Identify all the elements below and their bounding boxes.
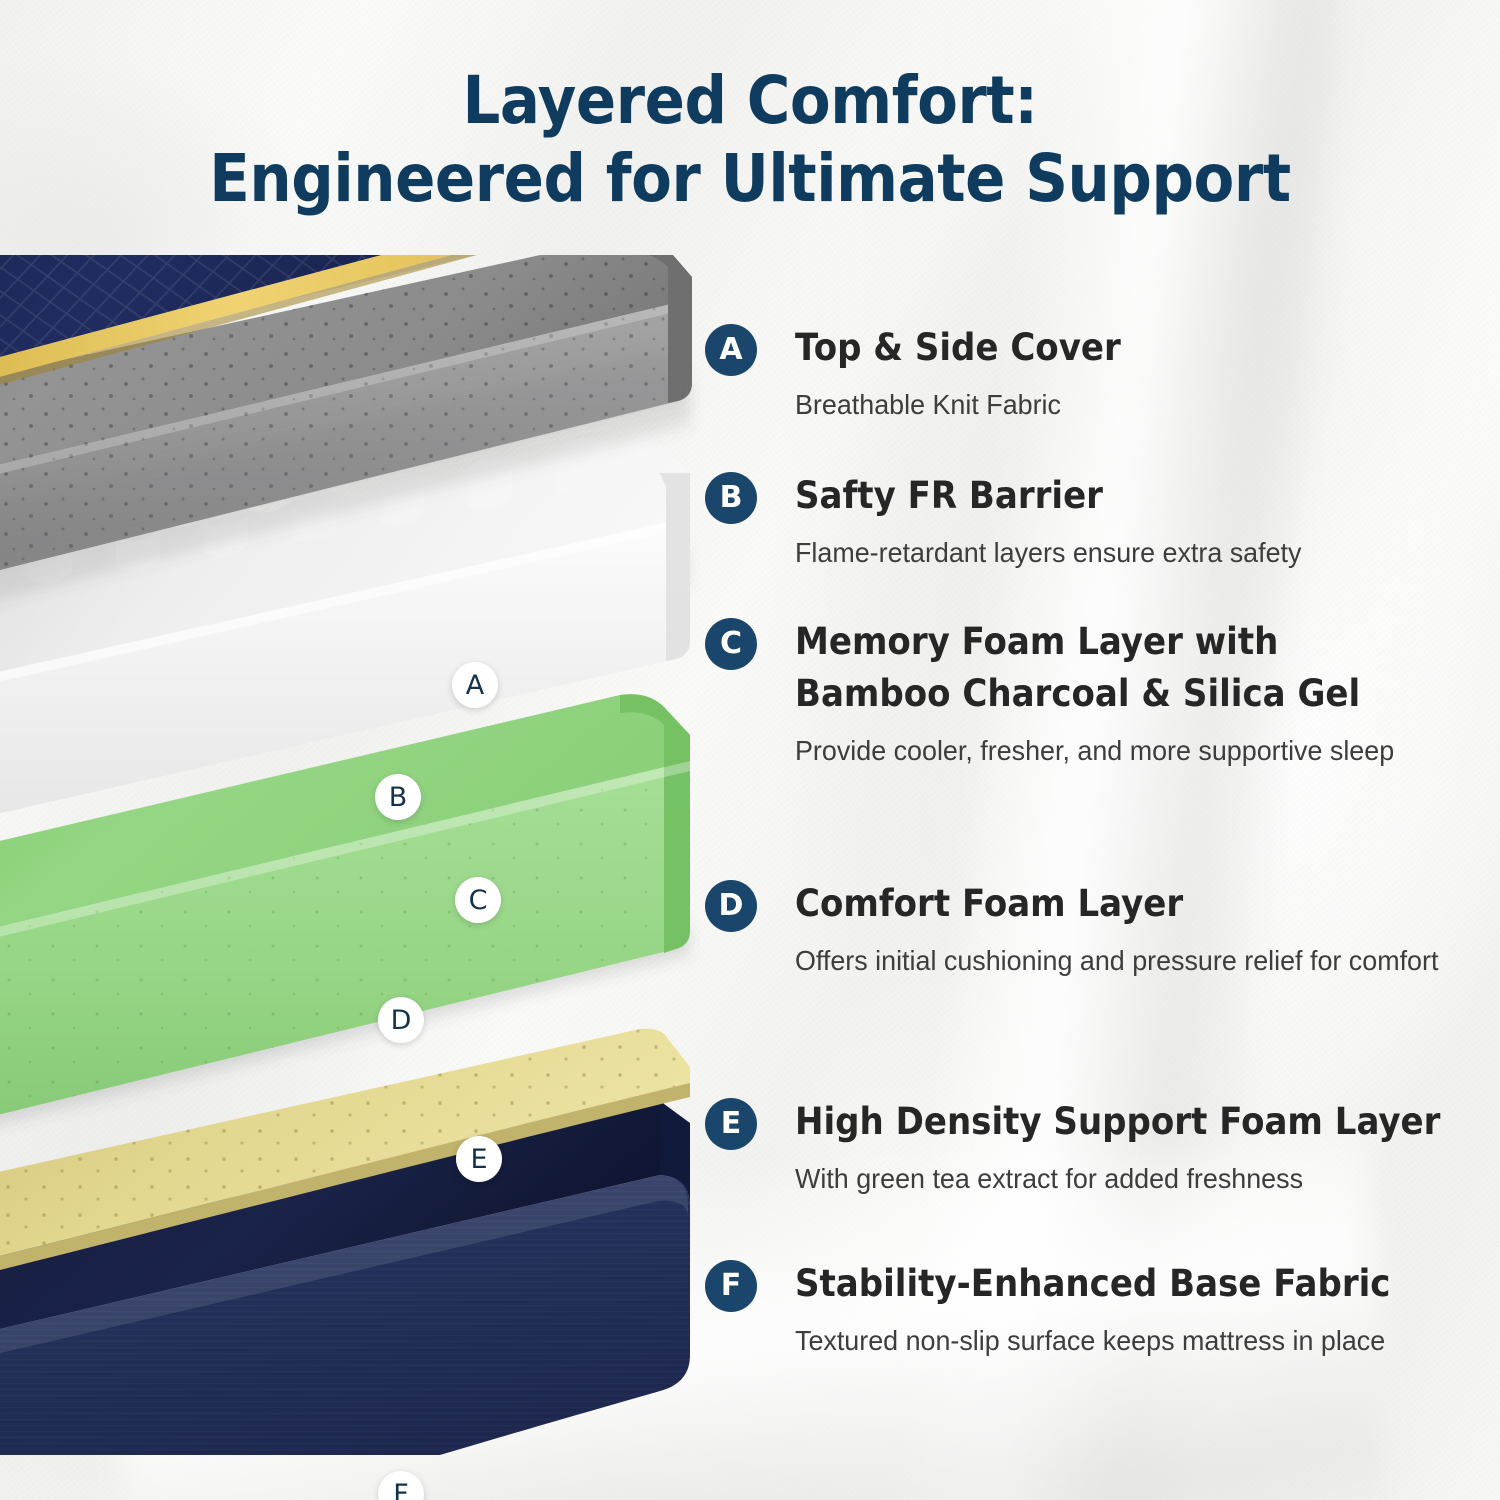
legend-text-b: Safty FR Barrier Flame-retardant layers …	[795, 470, 1323, 577]
legend-entry-a: A Top & Side Cover Breathable Knit Fabri…	[705, 322, 1485, 429]
legend-text-f: Stability-Enhanced Base Fabric Textured …	[795, 1258, 1442, 1365]
legend-entry-f: F Stability-Enhanced Base Fabric Texture…	[705, 1258, 1485, 1365]
mattress-exploded-diagram	[0, 255, 700, 1455]
legend-badge-d: D	[705, 880, 757, 932]
legend-badge-b: B	[705, 472, 757, 524]
legend-entry-d: D Comfort Foam Layer Offers initial cush…	[705, 878, 1485, 985]
legend-entry-b: B Safty FR Barrier Flame-retardant layer…	[705, 470, 1485, 577]
illustration-badge-c: C	[455, 877, 501, 923]
legend-entry-c: C Memory Foam Layer with Bamboo Charcoal…	[705, 616, 1485, 775]
mattress-layer-illustration: A B C D E F	[0, 255, 700, 1455]
illustration-badge-a: A	[452, 662, 498, 708]
legend-title-d: Comfort Foam Layer	[795, 878, 1412, 930]
legend-badge-c: C	[705, 618, 757, 670]
legend-desc-c: Provide cooler, fresher, and more suppor…	[795, 727, 1394, 775]
legend-entry-e: E High Density Support Foam Layer With g…	[705, 1096, 1485, 1203]
legend-text-c: Memory Foam Layer with Bamboo Charcoal &…	[795, 616, 1419, 775]
legend-badge-f: F	[705, 1260, 757, 1312]
legend-text-a: Top & Side Cover Breathable Knit Fabric	[795, 322, 1149, 429]
legend-title-f: Stability-Enhanced Base Fabric	[795, 1258, 1390, 1310]
illustration-badge-d: D	[378, 997, 424, 1043]
legend-desc-f: Textured non-slip surface keeps mattress…	[795, 1317, 1416, 1365]
legend-desc-e: With green tea extract for added freshne…	[795, 1155, 1457, 1203]
illustration-badge-e: E	[456, 1136, 502, 1182]
legend-badge-a: A	[705, 324, 757, 376]
legend-desc-b: Flame-retardant layers ensure extra safe…	[795, 529, 1301, 577]
legend-title-e: High Density Support Foam Layer	[795, 1096, 1440, 1148]
legend-text-d: Comfort Foam Layer Offers initial cushio…	[795, 878, 1465, 985]
legend-text-e: High Density Support Foam Layer With gre…	[795, 1096, 1497, 1203]
legend-desc-d: Offers initial cushioning and pressure r…	[795, 937, 1438, 985]
legend-title-c-line1: Memory Foam Layer with	[795, 616, 1369, 668]
legend-title-b: Safty FR Barrier	[795, 470, 1280, 522]
legend-title-c-line2: Bamboo Charcoal & Silica Gel	[795, 668, 1369, 720]
legend-desc-a: Breathable Knit Fabric	[795, 381, 1135, 429]
illustration-badge-b: B	[375, 774, 421, 820]
legend-title-a: Top & Side Cover	[795, 322, 1121, 374]
legend-list: A Top & Side Cover Breathable Knit Fabri…	[705, 0, 1500, 1500]
legend-badge-e: E	[705, 1098, 757, 1150]
